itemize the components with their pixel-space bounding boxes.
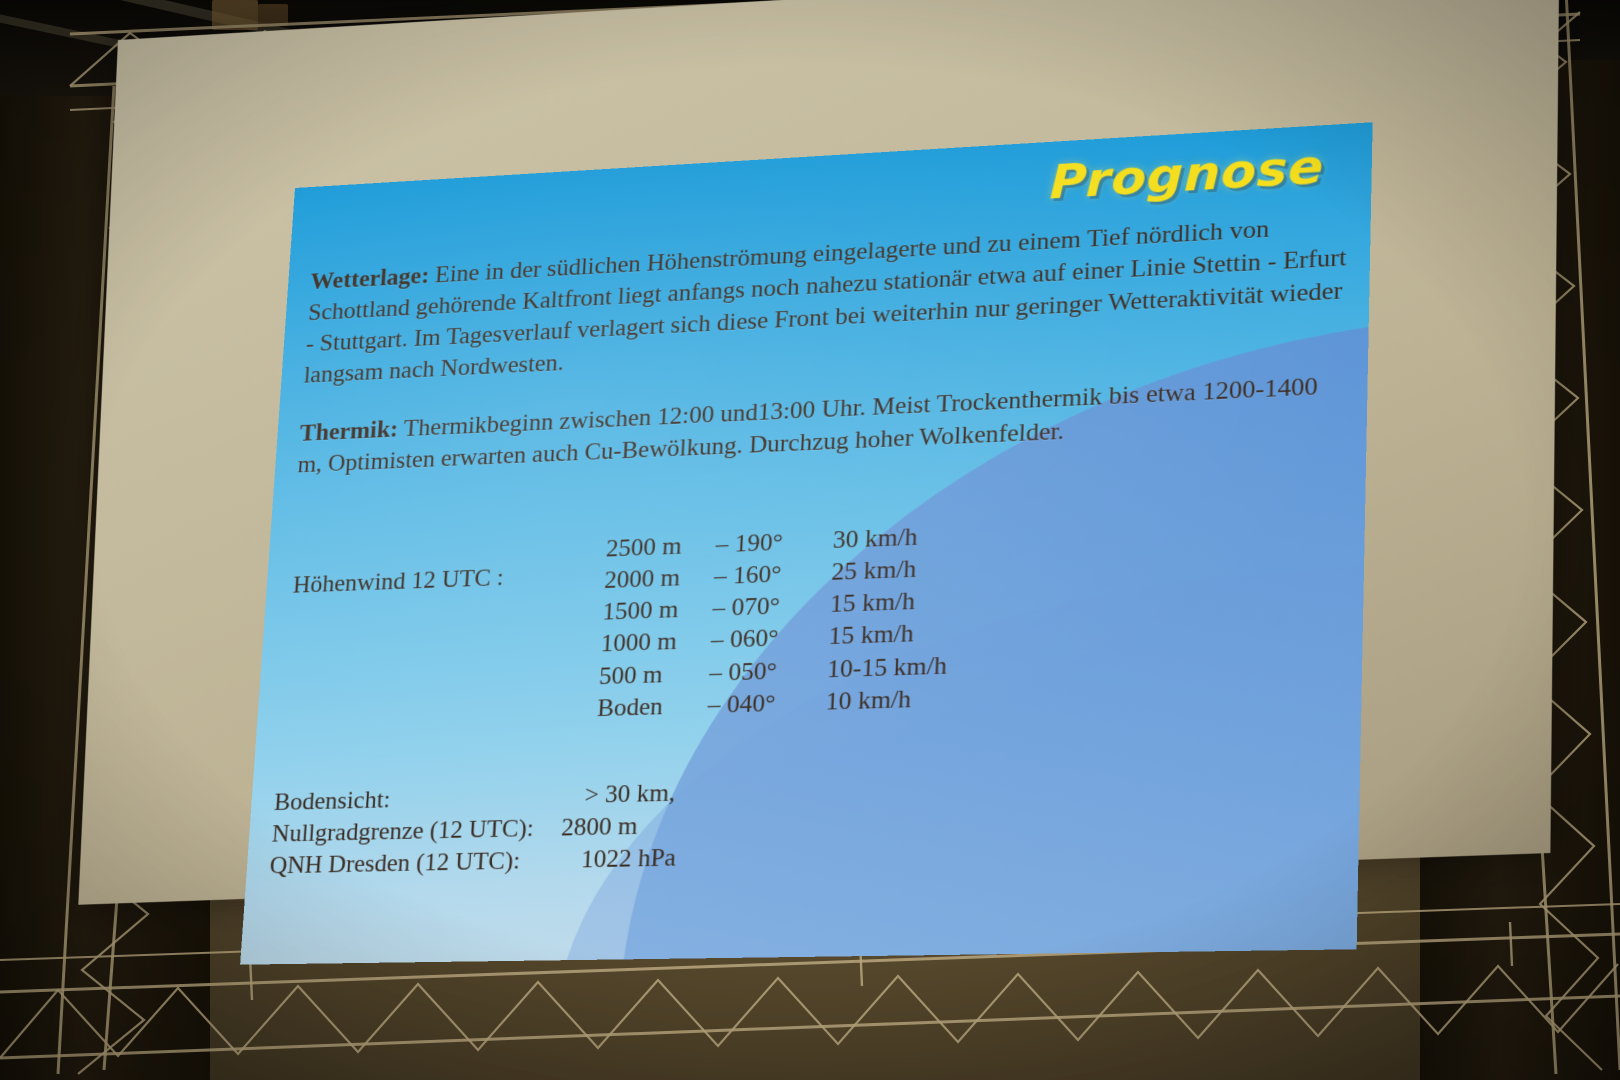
paragraph-body-thermik: Thermikbeginn zwischen 12:00 und13:00 Uh… [297,372,1318,478]
wind-altitude: 2000 m [604,560,716,596]
wind-direction: – 060° [710,620,829,656]
wind-block: Höhenwind 12 UTC : 2500 m – 190° 30 km/h… [292,504,1344,545]
paragraph-body-wetterlage: Eine in der südlichen Höhenströmung eing… [303,215,1347,388]
paragraph-wetterlage: Wetterlage: Eine in der südlichen Höhens… [303,208,1350,391]
paragraph-label-wetterlage: Wetterlage: [310,262,431,295]
wind-altitude: 1500 m [602,592,714,628]
slide-canvas: Prognose Wetterlage: Eine in der südlich… [240,122,1373,964]
wind-direction: – 160° [713,556,832,592]
wind-altitude: 1000 m [600,624,712,660]
projected-slide-area: Prognose Wetterlage: Eine in der südlich… [0,0,1620,1080]
wind-direction: – 070° [712,588,831,624]
wind-speed: 10 km/h [825,679,1009,717]
wind-label: Höhenwind 12 UTC : [292,563,504,599]
wind-altitude: Boden [597,688,709,723]
paragraph-label-thermik: Thermik: [299,415,399,446]
slide-title: Prognose [1049,139,1324,210]
summary-block: Bodensicht: > 30 km, Nullgradgrenze (12 … [269,760,1339,882]
wind-speed: 10-15 km/h [827,647,1011,685]
summary-value: 1022 hPa [559,838,812,876]
wind-altitude: 500 m [598,656,710,691]
summary-value: 2800 m [560,806,790,844]
wind-direction: – 050° [709,652,828,688]
wind-direction: – 040° [707,685,826,721]
summary-key: QNH Dresden (12 UTC): [269,844,561,882]
wind-direction: – 190° [715,524,834,560]
room-scene: Prognose Wetterlage: Eine in der südlich… [0,0,1620,1080]
wind-altitude: 2500 m [605,528,716,564]
paragraph-thermik: Thermik: Thermikbeginn zwischen 12:00 un… [297,369,1347,481]
wind-table: 2500 m – 190° 30 km/h 2000 m – 160° 25 k… [597,517,1016,724]
